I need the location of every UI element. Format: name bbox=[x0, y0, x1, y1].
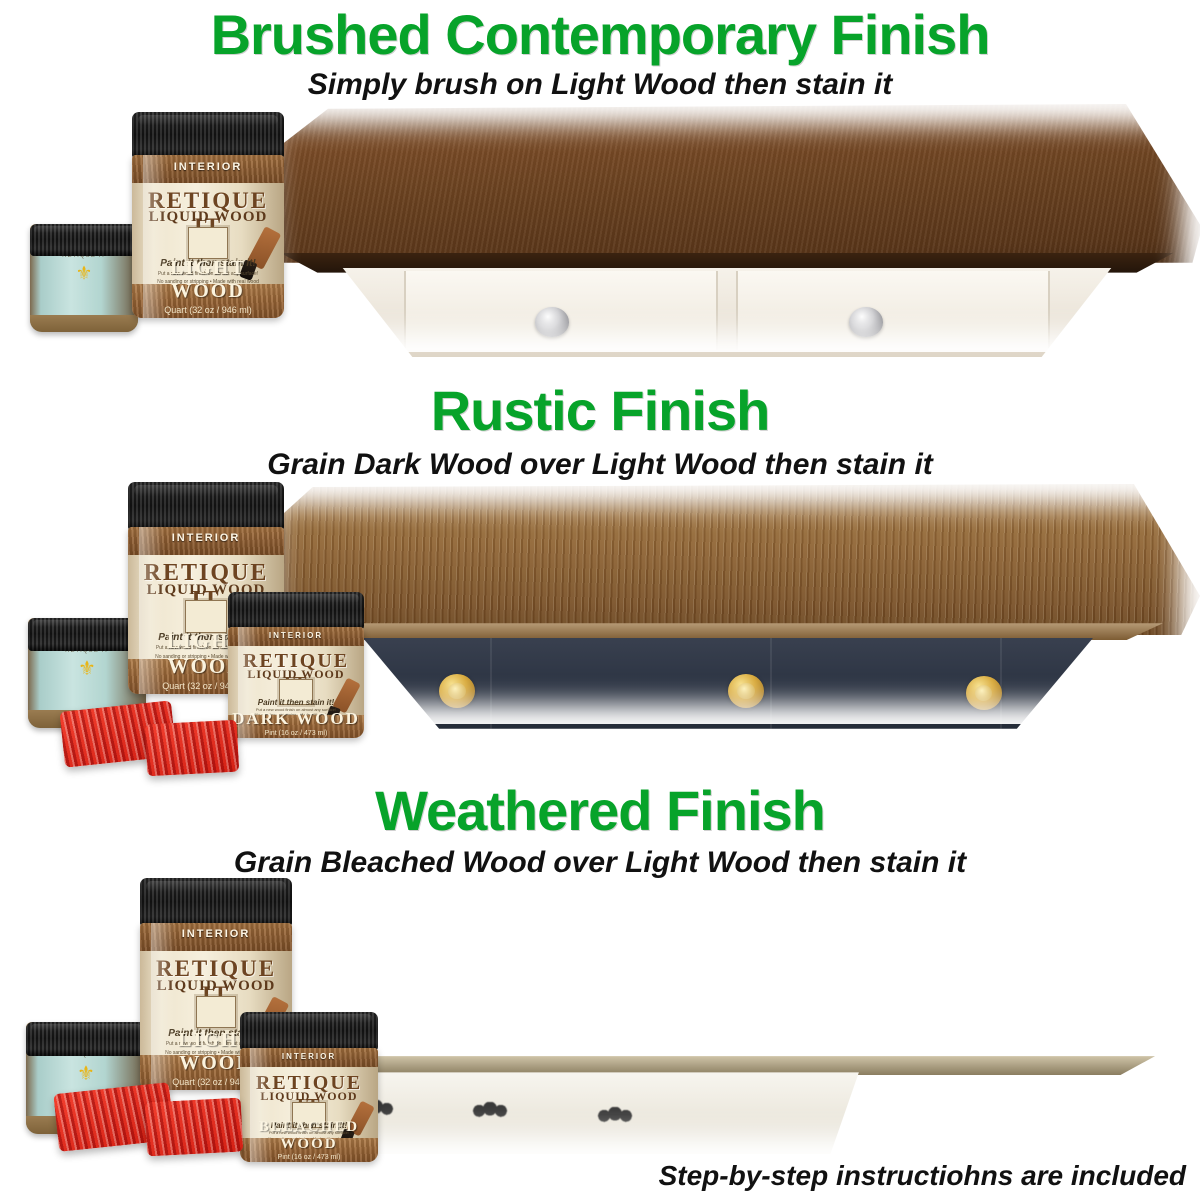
label-interior: INTERIOR bbox=[132, 161, 284, 173]
label-tagline: Paint it then stain it! bbox=[228, 698, 364, 707]
section-title-3: Weathered Finish bbox=[0, 778, 1200, 843]
photo-soft-edge bbox=[252, 104, 1200, 352]
photo-soft-edge bbox=[256, 484, 1200, 724]
jar-lid bbox=[128, 482, 284, 531]
label-interior: INTERIOR bbox=[240, 1052, 378, 1061]
product-jar-bleached-wood: INTERIOR RETIQUE IT LIQUID WOOD Paint it… bbox=[240, 1012, 378, 1162]
product-jar-light-wood-1: INTERIOR RETIQUE IT LIQUID WOOD Paint it… bbox=[132, 112, 284, 318]
wood-graining-rocker bbox=[145, 1098, 244, 1157]
label-size: Pint (16 oz / 473 ml) bbox=[228, 730, 364, 737]
jar-body: INTERIOR RETIQUE IT LIQUID WOOD Paint it… bbox=[132, 155, 284, 318]
jar-lid bbox=[228, 592, 364, 630]
fleur-de-lis-icon: ⚜ bbox=[75, 264, 92, 283]
section-subtitle-2: Grain Dark Wood over Light Wood then sta… bbox=[0, 448, 1200, 482]
label-color-name: LIGHT WOOD bbox=[132, 257, 284, 303]
jar-lid bbox=[26, 1022, 146, 1056]
section-subtitle-3: Grain Bleached Wood over Light Wood then… bbox=[0, 846, 1200, 880]
label-size: Quart (32 oz / 946 ml) bbox=[132, 305, 284, 315]
label-product-line: LIQUID WOOD bbox=[140, 978, 292, 995]
infographic-canvas: Brushed Contemporary Finish Simply brush… bbox=[0, 0, 1200, 1200]
fleur-de-lis-icon: ⚜ bbox=[78, 659, 96, 679]
jar-lid bbox=[132, 112, 284, 159]
label-color-name: DARK WOOD bbox=[228, 709, 364, 729]
section-title-1: Brushed Contemporary Finish bbox=[0, 2, 1200, 67]
crest-emblem-icon bbox=[196, 996, 236, 1028]
jar-body: INTERIOR RETIQUE IT LIQUID WOOD Paint it… bbox=[228, 627, 364, 738]
jar-lid bbox=[30, 224, 138, 256]
crest-emblem-icon bbox=[188, 227, 228, 259]
jar-body: INTERIOR RETIQUE IT LIQUID WOOD Paint it… bbox=[240, 1048, 378, 1162]
label-product-line: LIQUID WOOD bbox=[132, 209, 284, 226]
label-color-name: BLEACHED WOOD bbox=[240, 1119, 378, 1153]
product-jar-dark-wood: INTERIOR RETIQUE IT LIQUID WOOD Paint it… bbox=[228, 592, 364, 738]
label-size: Pint (16 oz / 473 ml) bbox=[240, 1154, 378, 1161]
furniture-photo-brushed bbox=[252, 104, 1200, 352]
section-subtitle-1: Simply brush on Light Wood then stain it bbox=[0, 68, 1200, 102]
product-jar-stain-1: ⚜ RETIQUE IT bbox=[30, 224, 138, 332]
jar-lid bbox=[240, 1012, 378, 1051]
furniture-photo-weathered bbox=[284, 882, 1200, 1154]
footer-instructions-note: Step-by-step instructiohns are included bbox=[659, 1160, 1186, 1192]
wood-graining-rocker bbox=[145, 720, 240, 777]
label-interior: INTERIOR bbox=[228, 631, 364, 640]
photo-soft-edge bbox=[284, 882, 1200, 1154]
furniture-photo-rustic bbox=[256, 484, 1200, 724]
jar-lid bbox=[140, 878, 292, 927]
label-interior: INTERIOR bbox=[128, 532, 284, 544]
fleur-de-lis-icon: ⚜ bbox=[77, 1064, 95, 1084]
label-interior: INTERIOR bbox=[140, 928, 292, 940]
section-title-2: Rustic Finish bbox=[0, 378, 1200, 443]
